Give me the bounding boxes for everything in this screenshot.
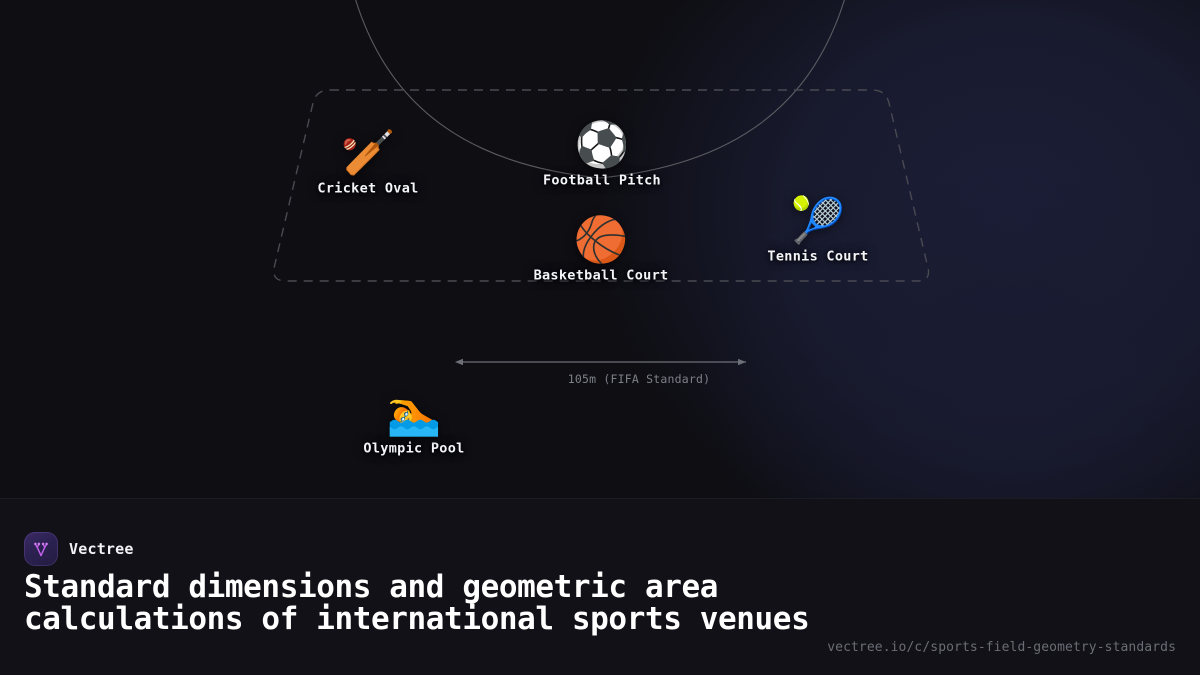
page-title: Standard dimensions and geometric area c…: [24, 571, 824, 635]
basketball-icon: 🏀: [574, 215, 629, 267]
cricket-icon: 🏏: [341, 128, 396, 180]
soccer-ball-icon: ⚽: [575, 120, 630, 172]
node-label-olympic-pool: Olympic Pool: [363, 441, 464, 457]
brand[interactable]: Vectree: [24, 532, 134, 566]
node-football-pitch[interactable]: ⚽ Football Pitch: [543, 120, 661, 189]
dimension-label: 105m (FIFA Standard): [568, 372, 710, 386]
node-label-football-pitch: Football Pitch: [543, 173, 661, 189]
source-url: vectree.io/c/sports-field-geometry-stand…: [827, 640, 1176, 655]
node-label-cricket-oval: Cricket Oval: [317, 181, 418, 197]
vectree-tree-logo-icon: [24, 532, 58, 566]
screenshot-root: 🏏 Cricket Oval ⚽ Football Pitch 🏀 Basket…: [0, 0, 1200, 675]
node-label-tennis-court: Tennis Court: [767, 249, 868, 265]
node-cricket-oval[interactable]: 🏏 Cricket Oval: [317, 128, 418, 197]
swimmer-icon: 🏊: [387, 388, 442, 440]
footer-bar: Vectree Standard dimensions and geometri…: [0, 498, 1200, 675]
tennis-icon: 🎾: [791, 196, 846, 248]
node-tennis-court[interactable]: 🎾 Tennis Court: [767, 196, 868, 265]
node-basketball-court[interactable]: 🏀 Basketball Court: [534, 215, 669, 284]
node-olympic-pool[interactable]: 🏊 Olympic Pool: [363, 388, 464, 457]
brand-name: Vectree: [69, 540, 134, 558]
node-label-basketball-court: Basketball Court: [534, 268, 669, 284]
